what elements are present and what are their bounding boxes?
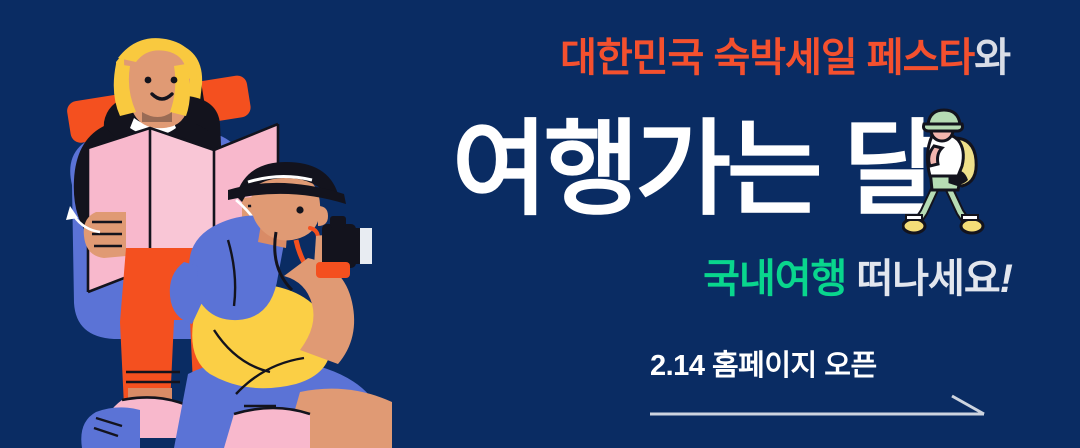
sub-line-tail: 떠나세요 <box>846 257 999 301</box>
festa-tail: 와 <box>974 36 1010 80</box>
traveler-illustration <box>0 0 440 448</box>
cta-label: 2.14 홈페이지 오픈 <box>650 352 1000 381</box>
left-hand <box>84 212 126 258</box>
walking-hiker-icon <box>902 108 992 240</box>
sub-line: 국내여행 떠나세요! <box>703 259 1012 299</box>
arrow-right-icon <box>650 394 986 420</box>
festa-keyword: 대한민국 숙박세일 페스타 <box>560 36 974 80</box>
promo-banner: 대한민국 숙박세일 페스타와 여행가는 달 <box>0 0 1080 448</box>
cta-open-announcement[interactable]: 2.14 홈페이지 오픈 <box>650 352 1000 381</box>
sub-line-keyword: 국내여행 <box>703 257 846 301</box>
festa-line: 대한민국 숙박세일 페스타와 <box>560 38 1010 78</box>
sub-line-exclamation: ! <box>1000 257 1012 301</box>
page-title: 여행가는 달 <box>452 100 922 240</box>
banner-copy: 대한민국 숙박세일 페스타와 여행가는 달 <box>440 0 1080 448</box>
